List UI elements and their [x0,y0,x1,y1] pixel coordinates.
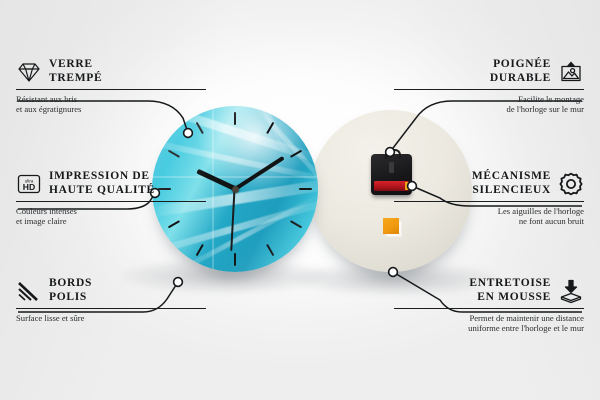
feature-mecanisme-silencieux: MÉCANISME SILENCIEUX Les aiguilles de l'… [394,170,584,227]
feature-divider [16,89,206,90]
hour-tick [234,253,236,266]
feature-title: ENTRETOISE EN MOUSSE [469,277,551,304]
feature-description: Permet de maintenir une distance uniform… [394,313,584,334]
feature-title: POIGNÉE DURABLE [490,58,551,85]
feature-description: Couleurs intenses et image claire [16,206,206,227]
hour-tick [266,244,274,256]
feature-divider [394,308,584,309]
hour-tick [234,112,236,125]
feature-entretoise-en-mousse: ENTRETOISE EN MOUSSE Permet de maintenir… [394,277,584,334]
feature-header: POIGNÉE DURABLE [394,58,584,85]
diamond-icon [16,59,42,85]
hour-tick [299,188,312,190]
feature-description: Les aiguilles de l'horloge ne font aucun… [394,206,584,227]
svg-text:HD: HD [23,182,35,192]
feature-header: MÉCANISME SILENCIEUX [394,170,584,197]
ultra-hd-badge-icon: ultra HD [16,171,42,197]
feature-description: Surface lisse et sûre [16,313,206,323]
foam-spacer-arrow-icon [558,278,584,304]
feature-title: BORDS POLIS [49,277,92,304]
hour-tick [290,220,302,228]
mechanism-hanger-icon [385,149,401,159]
feature-divider [394,201,584,202]
feature-divider [394,89,584,90]
gear-icon [558,171,584,197]
feature-divider [16,201,206,202]
feature-title: MÉCANISME SILENCIEUX [472,170,551,197]
feature-description: Facilite le montage de l'horloge sur le … [394,94,584,115]
infographic-canvas: VERRE TREMPÉ Résistant aux bris et aux é… [0,0,600,400]
feature-description: Résistant aux bris et aux égratignures [16,94,206,115]
feature-title: VERRE TREMPÉ [49,58,102,85]
feature-header: ultra HD IMPRESSION DE HAUTE QUALITÉ [16,170,206,197]
feature-header: BORDS POLIS [16,277,206,304]
feature-header: VERRE TREMPÉ [16,58,206,85]
diagonal-stripes-icon [16,278,42,304]
feature-verre-trempe: VERRE TREMPÉ Résistant aux bris et aux é… [16,58,206,115]
mechanism-shaft [389,162,394,173]
picture-hanger-icon [558,59,584,85]
feature-title: IMPRESSION DE HAUTE QUALITÉ [49,170,155,197]
feature-impression-haute-qualite: ultra HD IMPRESSION DE HAUTE QUALITÉ Cou… [16,170,206,227]
feature-divider [16,308,206,309]
feature-bords-polis: BORDS POLIS Surface lisse et sûre [16,277,206,323]
feature-header: ENTRETOISE EN MOUSSE [394,277,584,304]
feature-poignee-durable: POIGNÉE DURABLE Facilite le montage de l… [394,58,584,115]
clock-hands-cap [232,186,239,193]
